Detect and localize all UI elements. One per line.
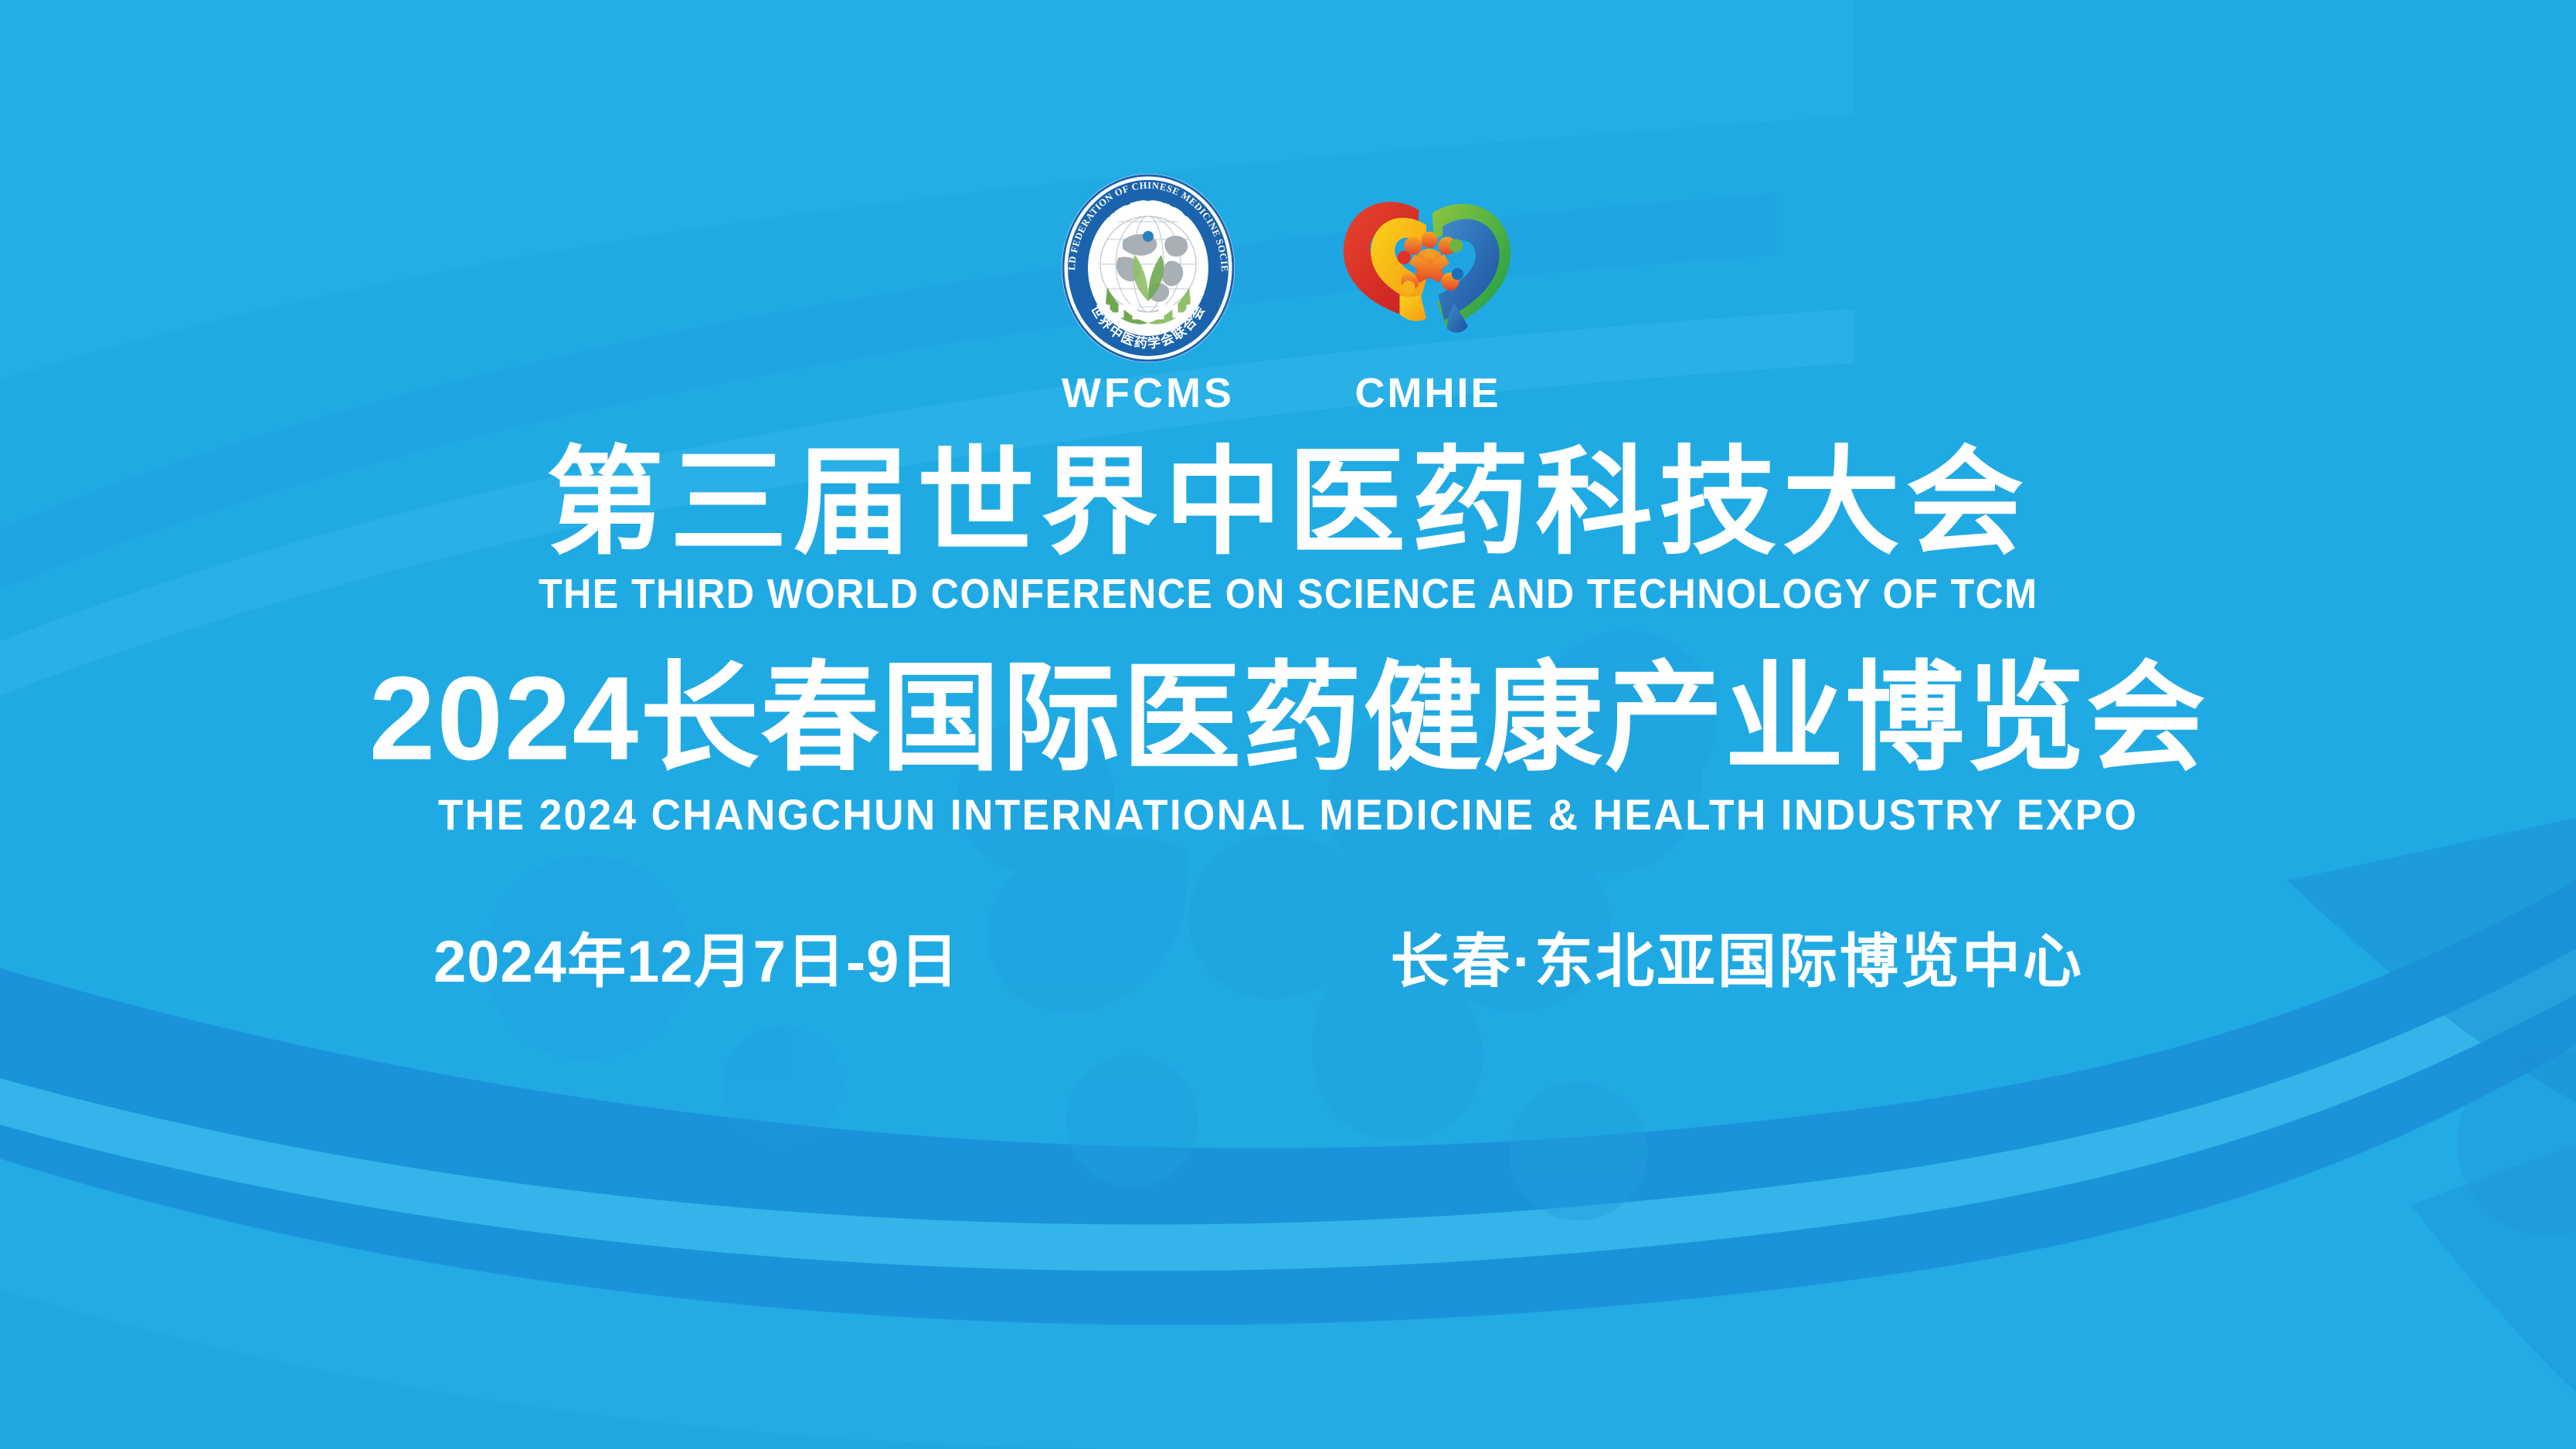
cmhie-logo-block: CMHIE: [1331, 171, 1524, 414]
wfcms-logo-block: WORLD FEDERATION OF CHINESE MEDICINE SOC…: [1052, 171, 1245, 414]
wfcms-seal-icon: WORLD FEDERATION OF CHINESE MEDICINE SOC…: [1052, 171, 1245, 365]
expo-title-cn: 2024长春国际医药健康产业博览会: [369, 657, 2207, 780]
event-date: 2024年12月7日-9日: [433, 914, 959, 999]
logo-row: WORLD FEDERATION OF CHINESE MEDICINE SOC…: [1052, 171, 1524, 414]
expo-title-en: THE 2024 CHANGCHUN INTERNATIONAL MEDICIN…: [438, 789, 2138, 840]
cmhie-wordmark: CMHIE: [1355, 372, 1501, 414]
conference-title-en: THE THIRD WORLD CONFERENCE ON SCIENCE AN…: [539, 570, 2037, 618]
event-poster: WORLD FEDERATION OF CHINESE MEDICINE SOC…: [0, 0, 2576, 1449]
poster-content: WORLD FEDERATION OF CHINESE MEDICINE SOC…: [0, 0, 2576, 1449]
cmhie-heart-icon: [1331, 171, 1524, 365]
wfcms-wordmark: WFCMS: [1062, 372, 1235, 414]
conference-title-cn: 第三届世界中医药科技大会: [546, 442, 2030, 564]
event-info-row: 2024年12月7日-9日 长春·东北亚国际博览中心: [415, 914, 2161, 999]
event-venue: 长春·东北亚国际博览中心: [1391, 914, 2084, 999]
